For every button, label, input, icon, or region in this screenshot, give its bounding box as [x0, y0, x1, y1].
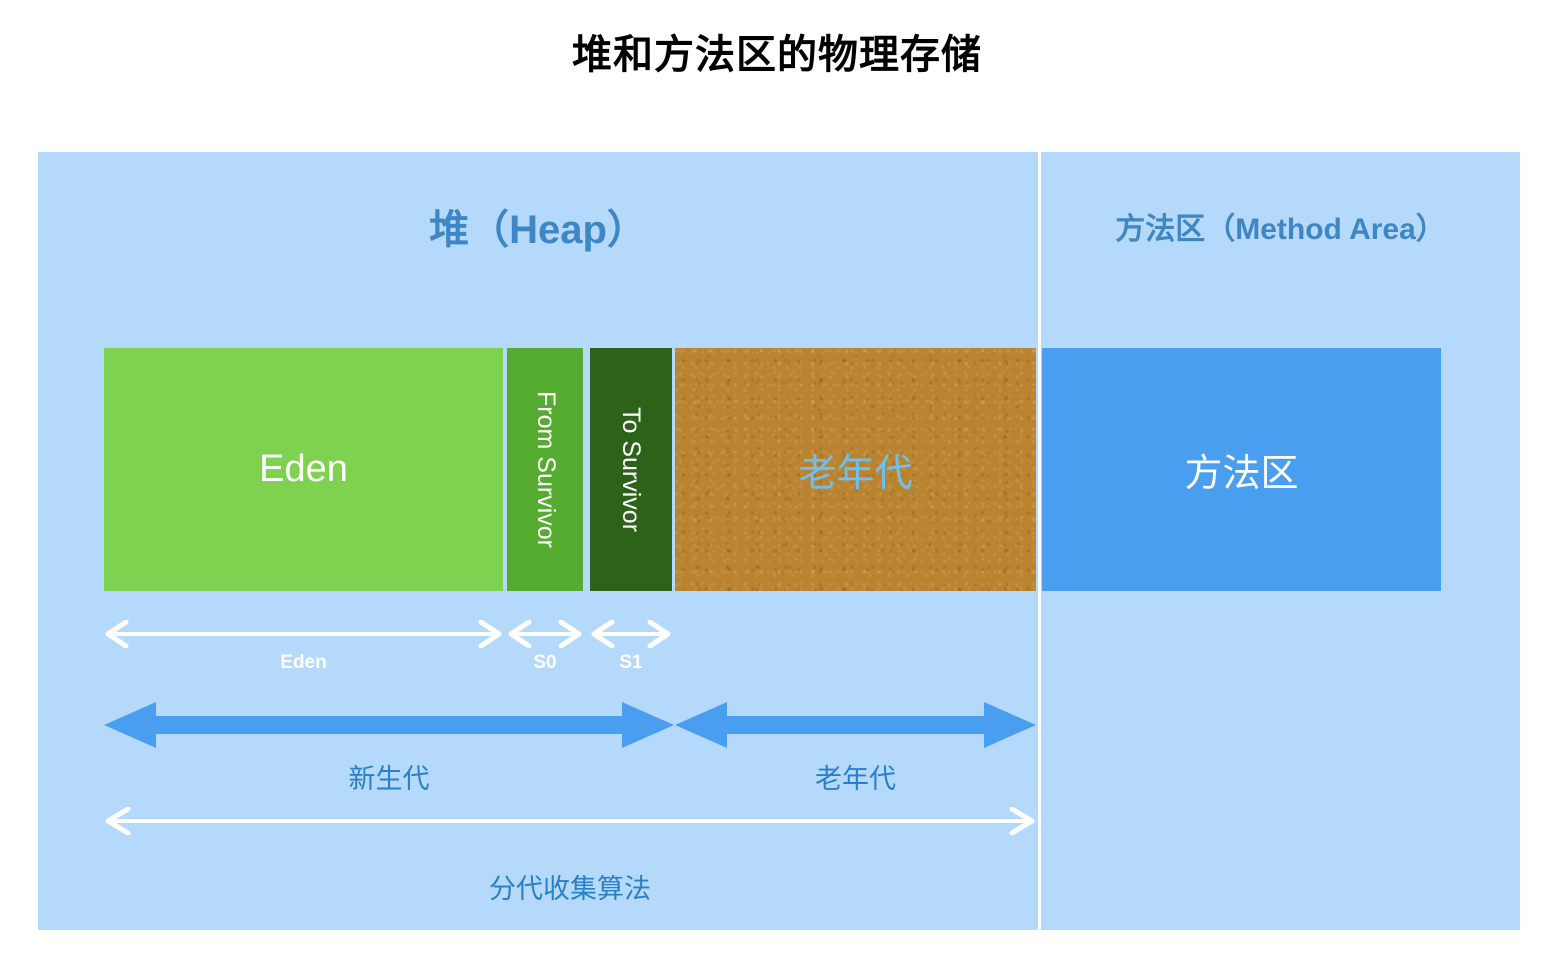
algorithm-label: 分代收集算法 [104, 867, 1036, 906]
measure-s1-label: S1 [590, 652, 672, 674]
double-arrow-icon [104, 620, 503, 648]
measure-eden-label: Eden [104, 652, 503, 674]
measure-s0-label: S0 [507, 652, 583, 674]
heap-section-heading: 堆（Heap） [38, 197, 1038, 255]
memory-block-eden[interactable]: Eden [104, 348, 503, 591]
memory-block-to-survivor[interactable]: To Survivor [590, 348, 672, 591]
measure-s1: S1 [590, 620, 672, 680]
algorithm-span: 分代收集算法 [104, 807, 1036, 917]
memory-block-old-generation[interactable]: 老年代 [675, 348, 1036, 591]
page-title: 堆和方法区的物理存储 [0, 22, 1554, 80]
memory-blocks-row: Eden From Survivor To Survivor 老年代 方法区 [38, 348, 1520, 591]
method-area-section-heading: 方法区（Method Area） [1041, 204, 1520, 248]
memory-block-to-survivor-label: To Survivor [617, 407, 646, 532]
memory-block-from-survivor[interactable]: From Survivor [507, 348, 583, 591]
memory-block-method-area[interactable]: 方法区 [1042, 348, 1441, 591]
memory-layout-panel: 堆（Heap） 方法区（Method Area） Eden From Survi… [38, 152, 1520, 930]
generation-span-young: 新生代 [104, 702, 674, 802]
double-arrow-icon [104, 807, 1036, 835]
double-arrow-icon [507, 620, 583, 648]
generation-young-label: 新生代 [104, 757, 674, 796]
measure-eden: Eden [104, 620, 503, 680]
memory-block-method-area-label: 方法区 [1184, 442, 1298, 497]
memory-block-from-survivor-label: From Survivor [531, 391, 560, 548]
measure-s0: S0 [507, 620, 583, 680]
memory-block-old-generation-label: 老年代 [798, 442, 912, 497]
double-arrow-icon [104, 702, 674, 748]
double-arrow-icon [675, 702, 1036, 748]
generation-span-old: 老年代 [675, 702, 1036, 802]
generation-old-label: 老年代 [675, 757, 1036, 796]
double-arrow-icon [590, 620, 672, 648]
memory-block-eden-label: Eden [259, 448, 348, 491]
